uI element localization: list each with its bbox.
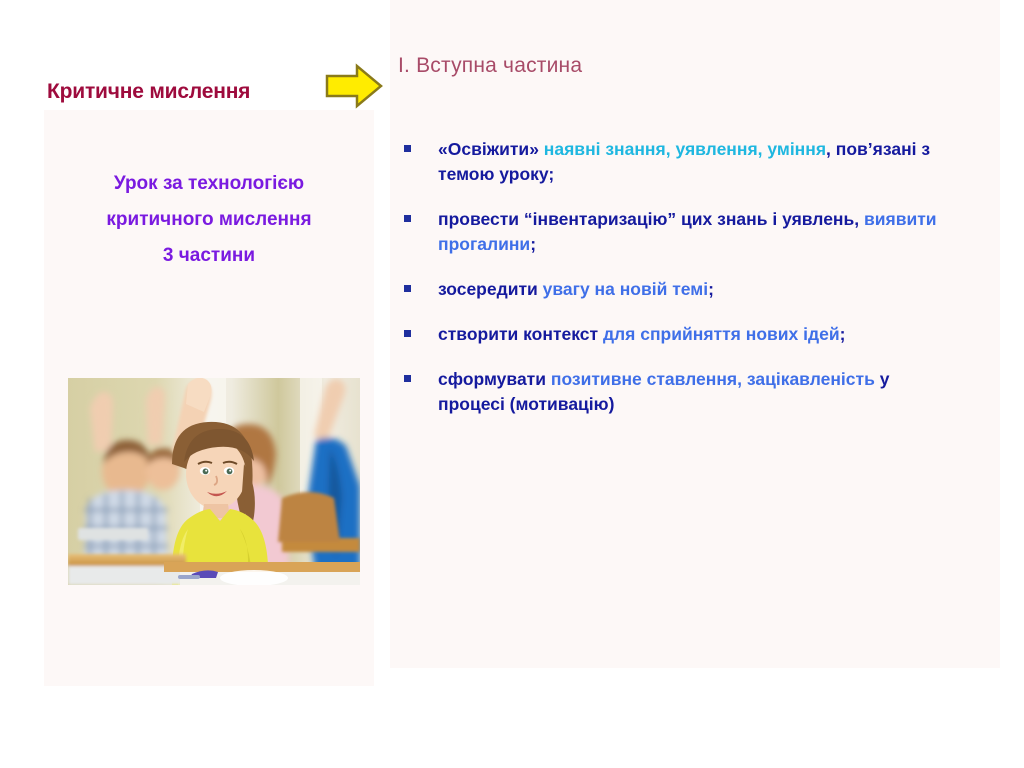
deck-title: Критичне мислення [47,80,327,104]
left-panel-subtitle: Урок за технологією критичного мислення … [44,166,374,274]
subtitle-line-3: 3 частини [44,238,374,274]
bullet-segment: ; [530,234,536,254]
list-item: провести “інвентаризацію” цих знань і уя… [398,207,943,257]
bullet-segment-highlight: позитивне ставлення, зацікавленість [551,369,875,389]
bullet-segment: ; [708,279,714,299]
bullet-segment-highlight: увагу на новій темі [543,279,708,299]
subtitle-line-2: критичного мислення [44,202,374,238]
square-bullet-icon [404,330,411,337]
bullet-segment-highlight: наявні знання, уявлення, уміння [544,139,826,159]
subtitle-line-1: Урок за технологією [44,166,374,202]
classroom-photo [68,378,360,585]
square-bullet-icon [404,215,411,222]
list-item: «Освіжити» наявні знання, уявлення, умін… [398,137,943,187]
square-bullet-icon [404,375,411,382]
list-item: створити контекст для сприйняття нових і… [398,322,943,347]
right-arrow-icon [323,62,385,110]
square-bullet-icon [404,285,411,292]
bullet-segment: «Освіжити» [438,139,544,159]
bullet-segment: зосередити [438,279,543,299]
list-item: зосередити увагу на новій темі; [398,277,943,302]
list-item: сформувати позитивне ставлення, зацікавл… [398,367,943,417]
section-heading: I. Вступна частина [398,54,582,78]
bullet-segment-highlight: для сприйняття нових ідей [603,324,840,344]
bullet-list: «Освіжити» наявні знання, уявлення, умін… [398,137,943,437]
bullet-segment: створити контекст [438,324,603,344]
square-bullet-icon [404,145,411,152]
bullet-segment: сформувати [438,369,551,389]
bullet-segment: ; [840,324,846,344]
bullet-segment: провести “інвентаризацію” цих знань і уя… [438,209,864,229]
